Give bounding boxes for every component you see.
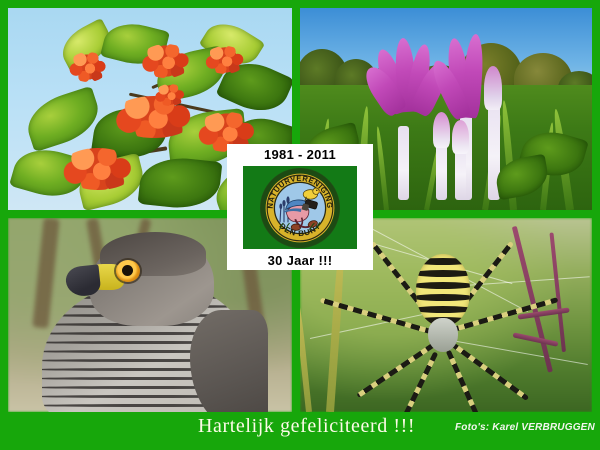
anniversary-card: 1981 - 2011 NATUURVERENIGING DEN BUNT — [227, 144, 373, 270]
berry-cluster — [68, 52, 108, 82]
club-logo-icon: NATUURVERENIGING DEN BUNT — [260, 168, 340, 248]
anniversary-label: 30 Jaar !!! — [268, 253, 333, 268]
goshawk-pupil — [122, 265, 133, 276]
anniversary-poster: 1981 - 2011 NATUURVERENIGING DEN BUNT — [0, 0, 600, 450]
photo-credit-text: Foto's: Karel VERBRUGGEN — [455, 422, 595, 433]
spider-abdomen — [416, 254, 470, 326]
berry-cluster — [60, 148, 136, 190]
logo-plate: NATUURVERENIGING DEN BUNT — [243, 166, 357, 249]
years-label: 1981 - 2011 — [264, 147, 336, 162]
berry-cluster — [140, 44, 192, 78]
berry-cluster — [154, 84, 186, 106]
caption-band: Hartelijk gefeliciteerd !!! Foto's: Kare… — [0, 412, 600, 450]
berry-cluster — [204, 46, 246, 74]
spider-cephalothorax — [428, 318, 458, 352]
congratulations-text: Hartelijk gefeliciteerd !!! — [198, 415, 415, 438]
goshawk-wing — [190, 310, 268, 412]
berry-cluster — [112, 96, 196, 138]
